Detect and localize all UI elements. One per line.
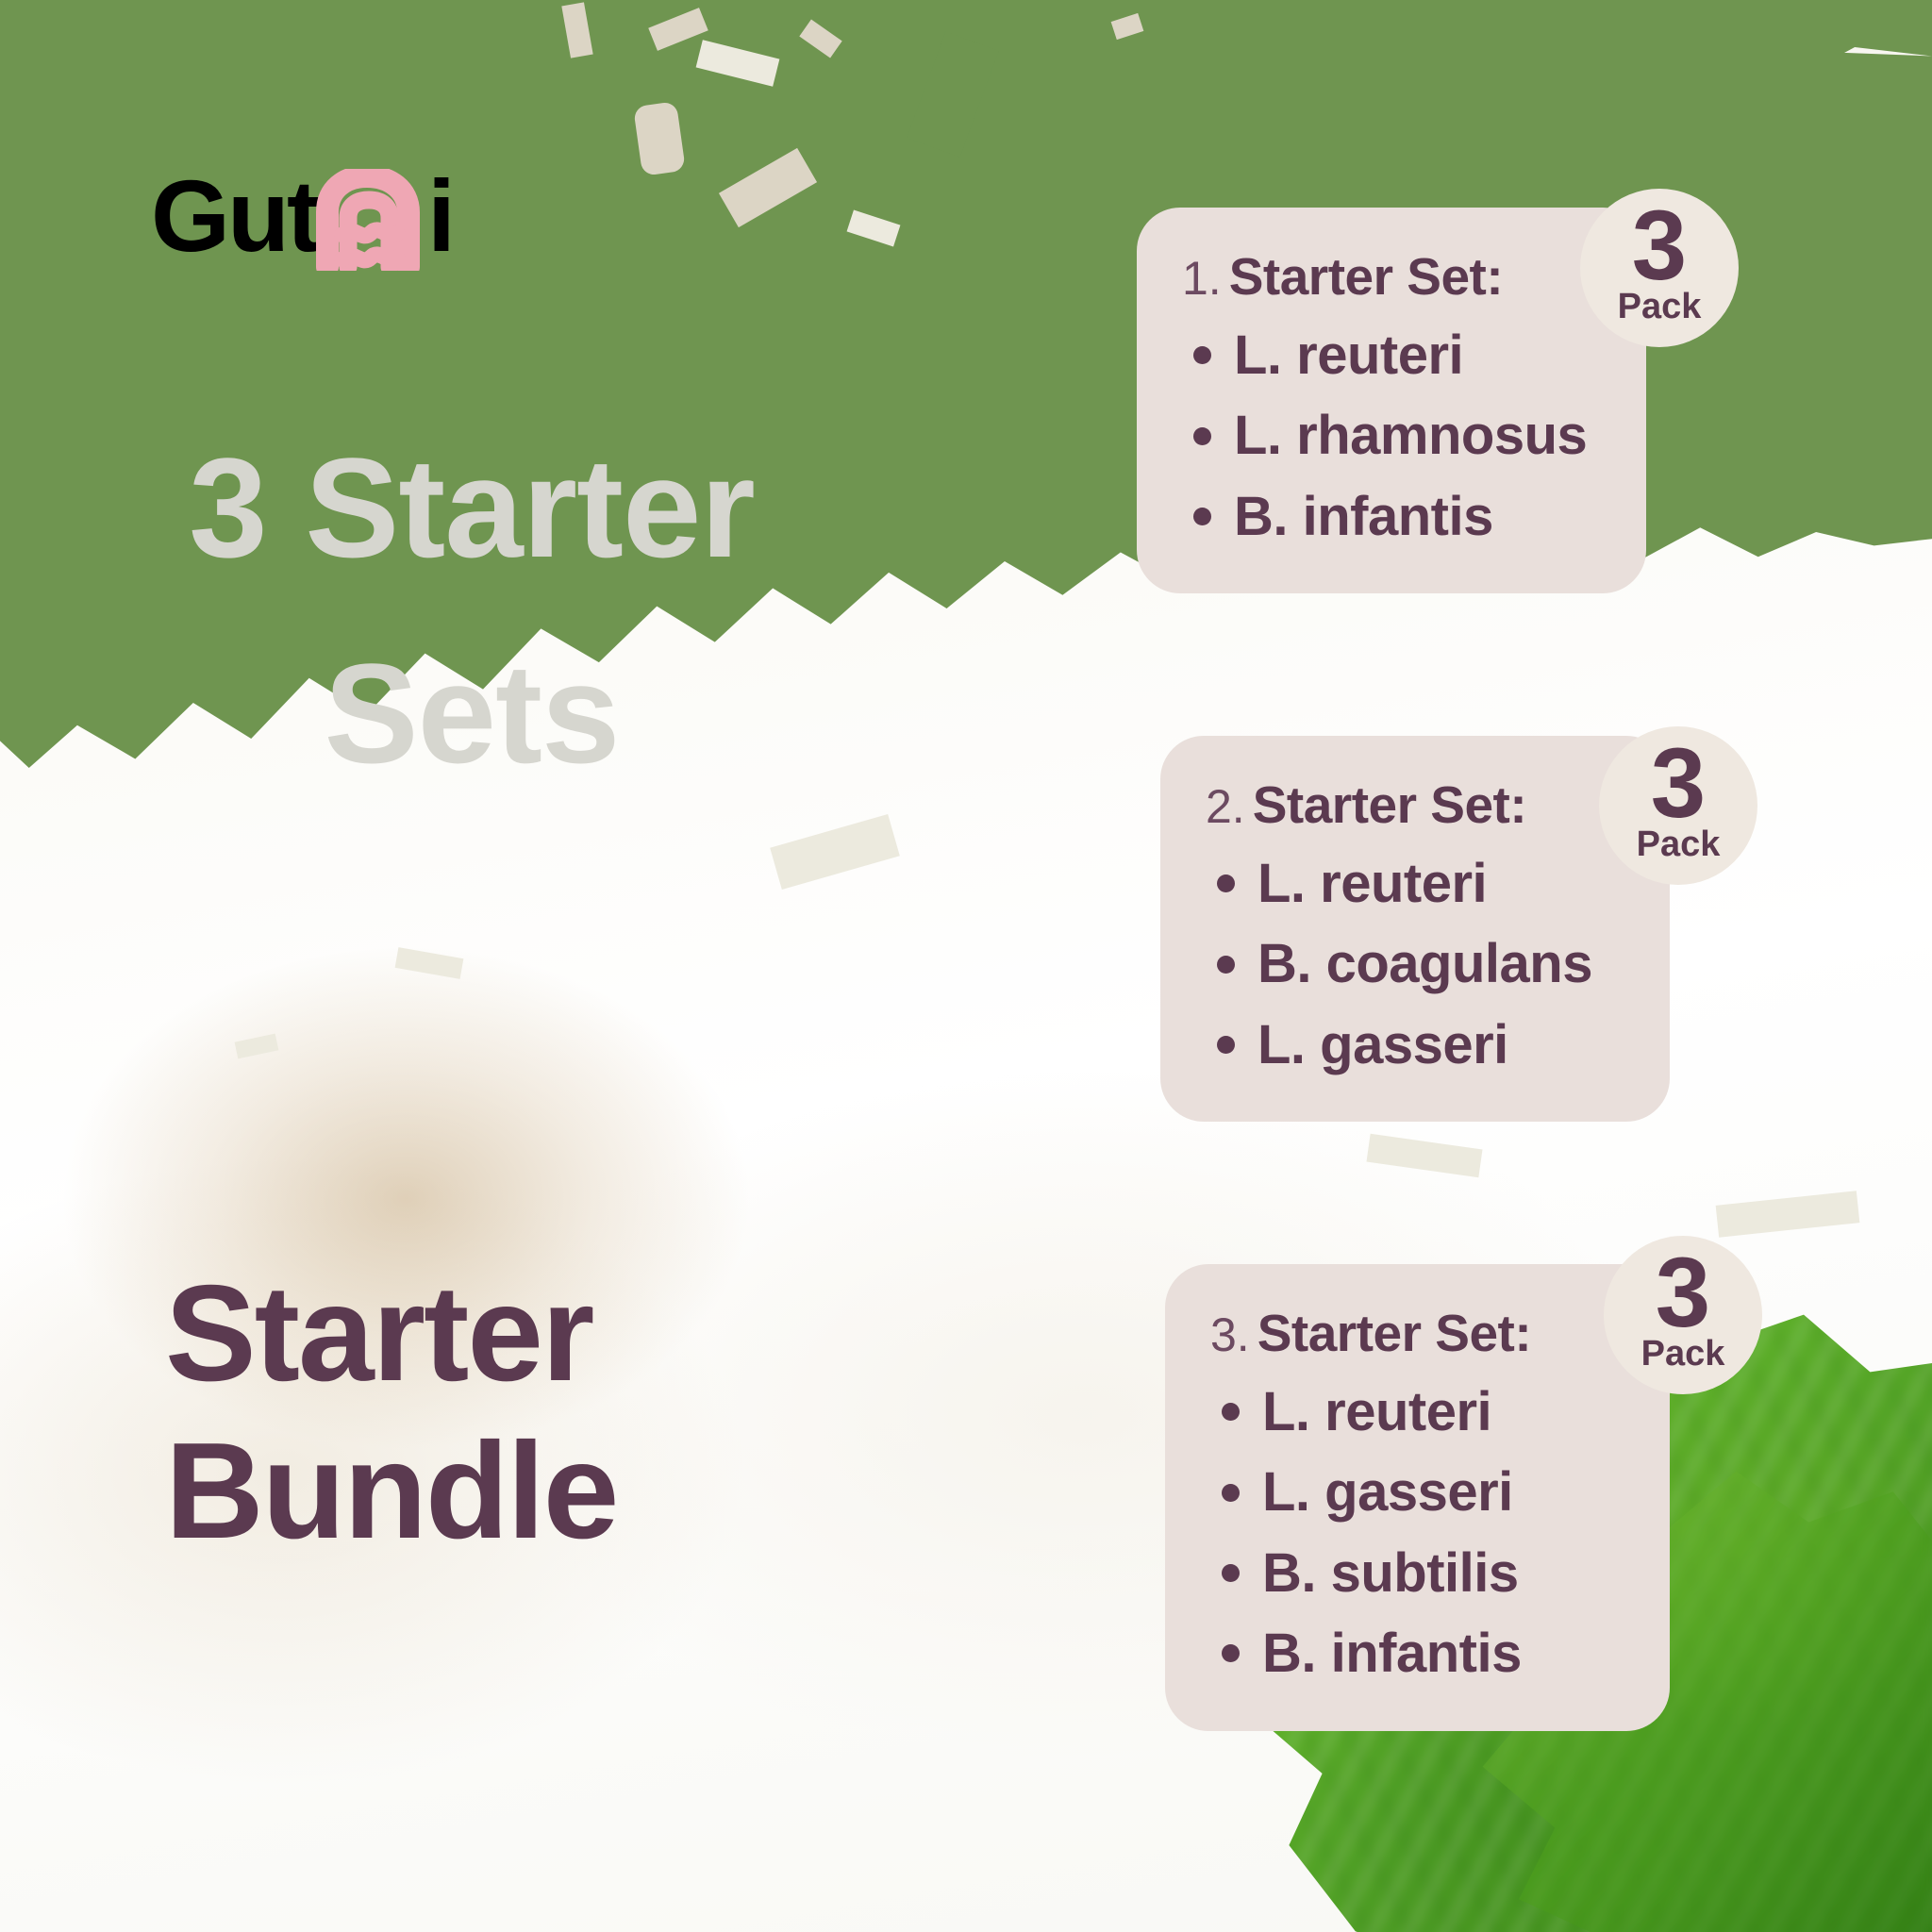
list-item: L. reuteri — [1182, 320, 1608, 391]
subtitle-line-1: Starter — [165, 1257, 592, 1409]
pack-badge-label: Pack — [1641, 1336, 1725, 1372]
strain-name: L. reuteri — [1262, 1376, 1491, 1447]
card-title: Starter Set: — [1229, 251, 1503, 303]
list-item: B. infantis — [1182, 481, 1608, 552]
bullet-icon — [1222, 1564, 1240, 1582]
card-title: Starter Set: — [1253, 779, 1526, 831]
pack-badge-label: Pack — [1637, 826, 1721, 862]
card-header: 3. Starter Set: — [1210, 1307, 1632, 1359]
headline-line-1: 3 Starter — [57, 406, 887, 611]
bullet-icon — [1217, 956, 1235, 974]
list-item: B. subtilis — [1210, 1538, 1632, 1608]
pack-badge-count: 3 — [1632, 206, 1687, 287]
strain-list: L. reuteri L. gasseri B. subtilis B. inf… — [1210, 1376, 1632, 1690]
starter-set-card-2[interactable]: 2. Starter Set: L. reuteri B. coagulans … — [1160, 736, 1670, 1122]
list-item: B. infantis — [1210, 1618, 1632, 1689]
pack-badge-1: 3 Pack — [1580, 189, 1739, 347]
bullet-icon — [1217, 874, 1235, 892]
list-item: L. gasseri — [1210, 1457, 1632, 1527]
page-title: 3 Starter Sets — [57, 406, 887, 816]
strain-name: L. reuteri — [1257, 848, 1487, 919]
poster-canvas: Gut i 3 Starter Sets Starter Bundle 3 Pa… — [0, 0, 1932, 1932]
list-item: L. reuteri — [1206, 848, 1632, 919]
intestine-icon — [314, 169, 425, 271]
headline-line-2: Sets — [57, 611, 887, 817]
strain-name: B. subtilis — [1262, 1538, 1519, 1608]
strain-name: B. infantis — [1262, 1618, 1522, 1689]
pack-badge-count: 3 — [1656, 1253, 1710, 1334]
pack-badge-3: 3 Pack — [1604, 1236, 1762, 1394]
bullet-icon — [1193, 508, 1211, 525]
list-item: B. coagulans — [1206, 928, 1632, 999]
list-item: L. reuteri — [1210, 1376, 1632, 1447]
bullet-icon — [1193, 346, 1211, 364]
brand-logo[interactable]: Gut i — [151, 158, 453, 267]
strain-list: L. reuteri B. coagulans L. gasseri — [1206, 848, 1632, 1080]
strain-list: L. reuteri L. rhamnosus B. infantis — [1182, 320, 1608, 552]
subtitle-line-2: Bundle — [165, 1412, 882, 1570]
pack-badge-2: 3 Pack — [1599, 726, 1757, 885]
strain-name: L. rhamnosus — [1234, 400, 1587, 471]
bullet-icon — [1222, 1644, 1240, 1662]
brand-name-text: Gut — [151, 165, 318, 267]
list-item: L. gasseri — [1206, 1009, 1632, 1080]
card-number: 3. — [1210, 1311, 1250, 1358]
pack-badge-count: 3 — [1651, 743, 1706, 824]
list-item: L. rhamnosus — [1182, 400, 1608, 471]
starter-set-card-3[interactable]: 3. Starter Set: L. reuteri L. gasseri B.… — [1165, 1264, 1670, 1731]
brand-name-suffix: i — [427, 165, 453, 267]
bullet-icon — [1222, 1484, 1240, 1502]
starter-set-card-1[interactable]: 1. Starter Set: L. reuteri L. rhamnosus … — [1137, 208, 1646, 593]
strain-name: B. infantis — [1234, 481, 1493, 552]
strain-name: L. gasseri — [1262, 1457, 1513, 1527]
card-header: 2. Starter Set: — [1206, 779, 1632, 831]
pack-badge-label: Pack — [1618, 289, 1702, 325]
bullet-icon — [1217, 1036, 1235, 1054]
card-number: 2. — [1206, 783, 1245, 830]
strain-name: B. coagulans — [1257, 928, 1592, 999]
product-title: Starter Bundle — [165, 1255, 882, 1570]
card-header: 1. Starter Set: — [1182, 251, 1608, 303]
card-number: 1. — [1182, 255, 1222, 302]
card-title: Starter Set: — [1257, 1307, 1531, 1359]
strain-name: L. gasseri — [1257, 1009, 1508, 1080]
strain-name: L. reuteri — [1234, 320, 1463, 391]
bullet-icon — [1193, 427, 1211, 445]
bullet-icon — [1222, 1403, 1240, 1421]
